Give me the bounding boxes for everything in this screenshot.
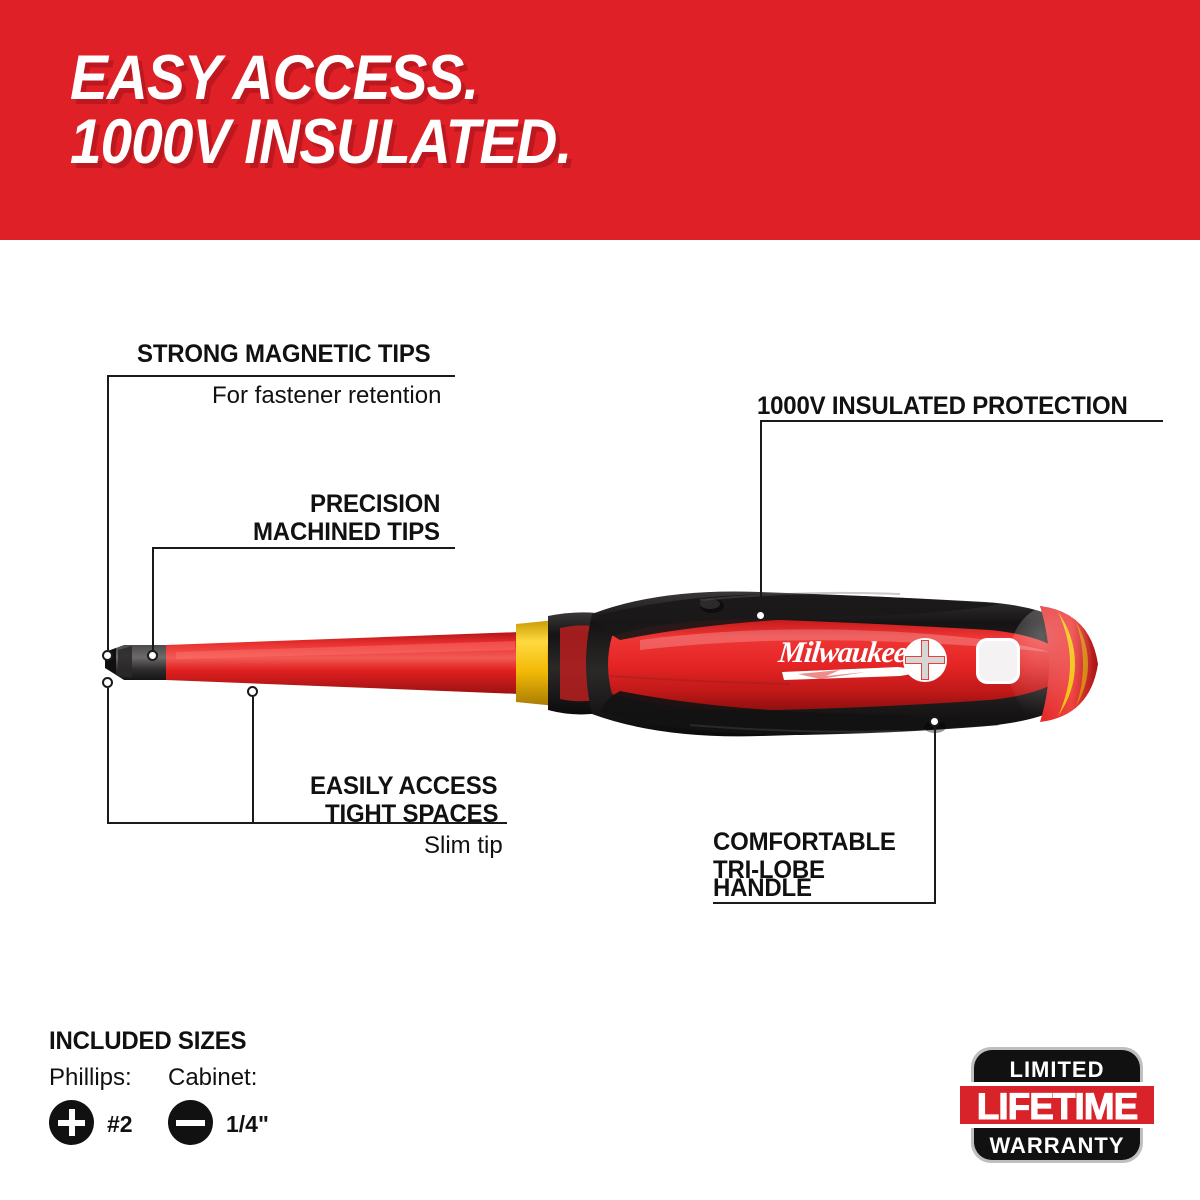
callout-strong-magnetic-tips-leader [107, 375, 109, 656]
callout-easily-access-heading-line-2: TIGHT SPACES [325, 800, 498, 830]
header-banner: EASY ACCESS. 1000V INSULATED. [0, 0, 1200, 240]
callout-strong-magnetic-tips-heading: STRONG MAGNETIC TIPS [137, 340, 431, 370]
callout-insulated-protection-anchor-dot [755, 610, 766, 621]
callout-insulated-protection-heading: 1000V INSULATED PROTECTION [757, 392, 1128, 422]
callout-precision-machined-tips-heading-line-1: PRECISION [310, 490, 440, 520]
callout-precision-machined-tips-anchor-dot [147, 650, 158, 661]
callout-strong-magnetic-tips-anchor-dot [102, 650, 113, 661]
callout-precision-machined-tips-rule [152, 547, 455, 549]
phillips-bit-icon [49, 1100, 94, 1145]
callout-strong-magnetic-tips-subtext: For fastener retention [212, 382, 441, 410]
milwaukee-logo: Milwaukee [776, 635, 930, 680]
callout-tri-lobe-handle-heading-line-1: COMFORTABLE [713, 828, 896, 858]
callout-easily-access-anchor-dot-left [102, 677, 113, 688]
callout-insulated-protection-leader [760, 420, 762, 616]
header-headline-line-1: EASY ACCESS. [70, 46, 571, 110]
included-sizes-title: INCLUDED SIZES [49, 1027, 246, 1056]
callout-precision-machined-tips-leader [152, 547, 154, 656]
badge-lifetime-text: LIFETIME [977, 1086, 1138, 1127]
callout-easily-access-leader-left [107, 688, 109, 823]
svg-text:Milwaukee: Milwaukee [776, 635, 909, 669]
included-sizes-cabinet-label: Cabinet: [168, 1064, 257, 1092]
badge-warranty-text: WARRANTY [989, 1133, 1124, 1158]
callout-strong-magnetic-tips-rule [107, 375, 455, 377]
badge-limited-text: LIMITED [1010, 1057, 1105, 1082]
callout-insulated-protection-rule [760, 420, 1163, 422]
callout-tri-lobe-handle-heading-line-3: HANDLE [713, 874, 812, 904]
included-sizes-phillips-label: Phillips: [49, 1064, 132, 1092]
header-headline-line-2: 1000V INSULATED. [70, 110, 571, 174]
limited-lifetime-warranty-badge: LIMITED LIFETIME WARRANTY [956, 1040, 1158, 1170]
callout-tri-lobe-handle-leader-vertical [934, 726, 936, 904]
callout-easily-access-anchor-dot-right [247, 686, 258, 697]
callout-easily-access-subtext: Slim tip [424, 832, 503, 860]
included-sizes-phillips-value: #2 [107, 1111, 133, 1138]
callout-easily-access-heading-line-1: EASILY ACCESS [310, 772, 497, 802]
slotted-bit-icon [168, 1100, 213, 1145]
callout-easily-access-leader-right [252, 697, 254, 823]
header-banner-text: EASY ACCESS. 1000V INSULATED. [70, 46, 627, 174]
callout-precision-machined-tips-heading-line-2: MACHINED TIPS [253, 518, 440, 548]
infographic-canvas: EASY ACCESS. 1000V INSULATED. [0, 0, 1200, 1200]
included-sizes-cabinet-value: 1/4" [226, 1111, 269, 1138]
phillips-cross-icon [903, 638, 947, 682]
